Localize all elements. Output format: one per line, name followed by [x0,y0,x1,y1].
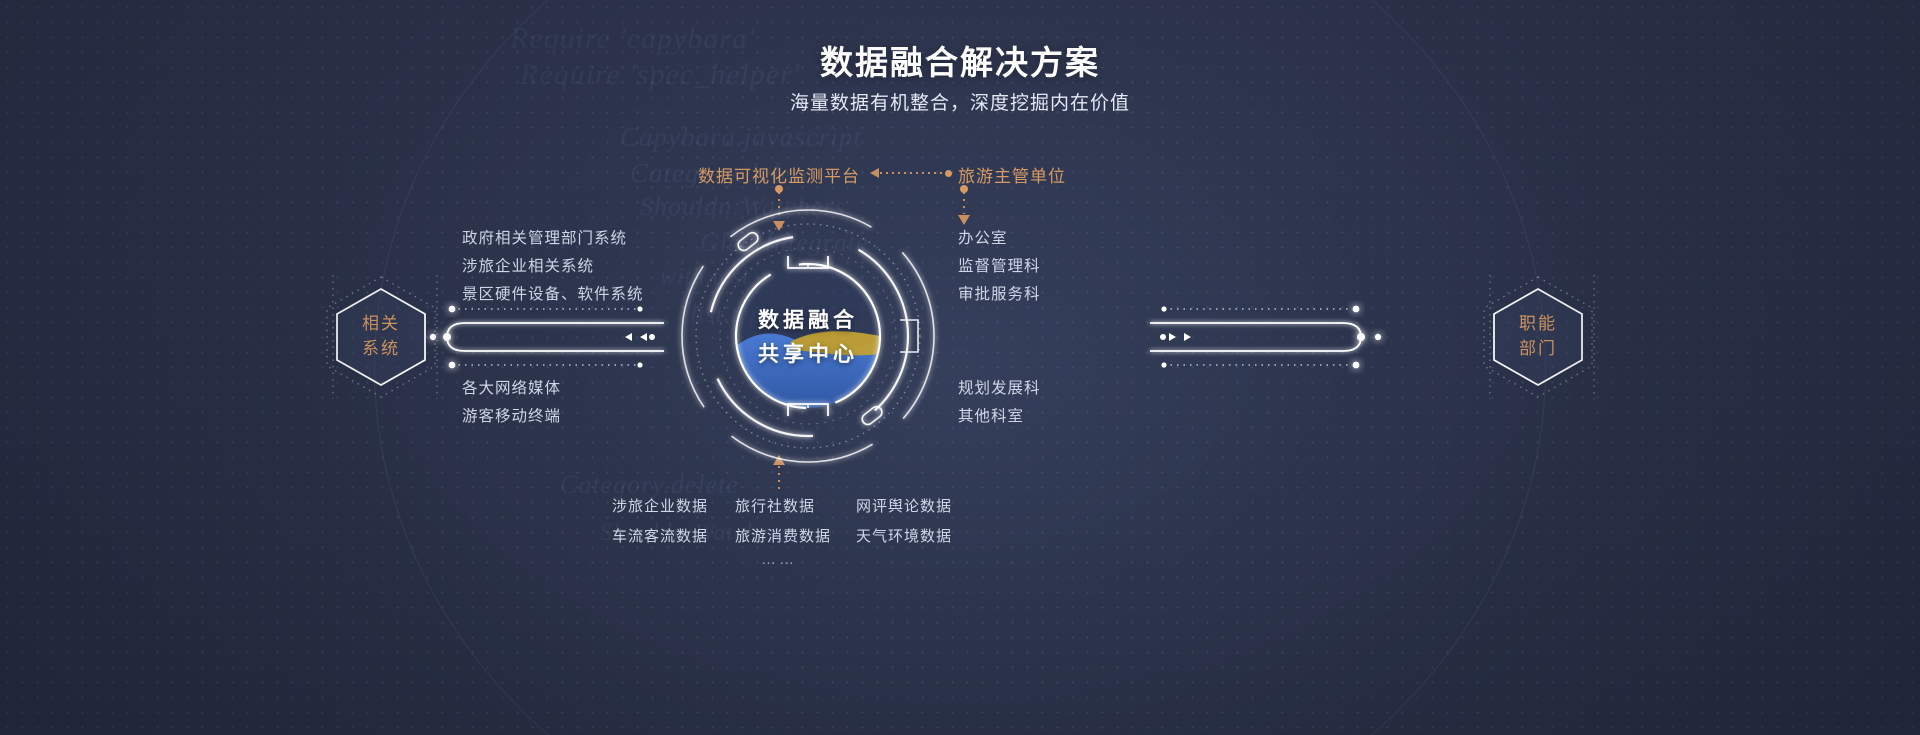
bottom-item-r2c2: 天气环境数据 [856,525,952,546]
left-item-1: 涉旅企业相关系统 [462,254,594,276]
right-item-0: 办公室 [958,226,1008,248]
node-visualization-platform[interactable]: 数据可视化监测平台 [698,162,860,187]
hexagon-left-line2: 系统 [362,337,400,362]
arrow-platform-to-authority [880,172,944,174]
left-item-2: 景区硬件设备、软件系统 [462,282,644,304]
connector-dot [960,185,968,193]
arrow-down-icon [958,215,970,225]
right-item-1: 监督管理科 [958,254,1041,276]
hexagon-left-text: 相关 系统 [325,275,437,399]
hexagon-functional-departments[interactable]: 职能 部门 [1482,275,1594,399]
core-data-fusion-center[interactable]: 数据融合 共享中心 [672,200,944,472]
left-item-0: 政府相关管理部门系统 [462,226,627,248]
hexagon-right-text: 职能 部门 [1482,275,1594,399]
hexagon-left-line1: 相关 [362,312,400,337]
hexagon-related-systems[interactable]: 相关 系统 [325,275,437,399]
bottom-item-r1c0: 涉旅企业数据 [612,495,708,516]
right-item-2: 审批服务科 [958,282,1041,304]
core-rings [672,200,944,472]
left-item-3: 各大网络媒体 [462,376,561,398]
page-title: 数据融合解决方案 [0,36,1920,84]
ring-node-bottom-right [860,404,884,426]
right-item-4: 其他科室 [958,404,1024,426]
node-tourism-authority[interactable]: 旅游主管单位 [958,162,1066,187]
core-liquid-fill [736,331,880,415]
bottom-ellipsis: …… [761,551,797,568]
bottom-item-r2c0: 车流客流数据 [612,525,708,546]
bottom-item-r1c1: 旅行社数据 [735,495,815,516]
left-item-4: 游客移动终端 [462,404,561,426]
right-item-3: 规划发展科 [958,376,1041,398]
hexagon-right-line1: 职能 [1519,312,1557,337]
bottom-item-r2c1: 旅游消费数据 [735,525,831,546]
connector-authority-down [963,192,965,214]
infographic-stage: Require 'capybara' Require 'spec_helper'… [0,0,1920,735]
hexagon-right-line2: 部门 [1519,337,1557,362]
bottom-item-r1c2: 网评舆论数据 [856,495,952,516]
watermark-text-2: Capybara.javascript [620,122,862,153]
page-subtitle: 海量数据有机整合，深度挖掘内在价值 [0,88,1920,115]
connector-dot [775,185,783,193]
